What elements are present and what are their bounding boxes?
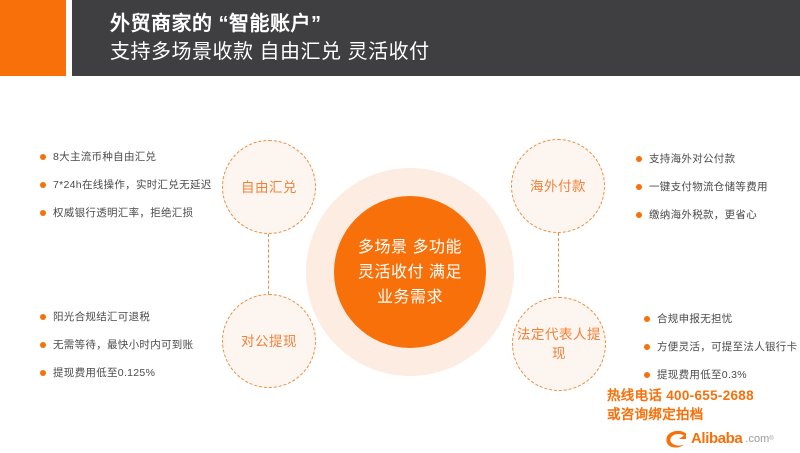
- bullet-dot-icon: [40, 154, 46, 160]
- header-text-wrap: 外贸商家的 “智能账户” 支持多场景收款 自由汇兑 灵活收付: [72, 0, 800, 76]
- trademark-icon: ®: [769, 436, 773, 442]
- list-item: 8大主流币种自由汇兑: [40, 150, 212, 164]
- list-item: 7*24h在线操作，实时汇兑无延迟: [40, 178, 212, 192]
- bullet-group-corporate-withdrawal: 阳光合规结汇可退税 无需等待，最快小时内可到账 提现费用低至0.125%: [40, 310, 193, 394]
- list-item-text: 权威银行透明汇率，拒绝汇损: [53, 207, 193, 219]
- list-item: 提现费用低至0.125%: [40, 366, 193, 380]
- bullet-dot-icon: [636, 184, 642, 190]
- list-item-text: 无需等待，最快小时内可到账: [53, 339, 193, 351]
- list-item: 无需等待，最快小时内可到账: [40, 338, 193, 352]
- list-item: 缴纳海外税款，更省心: [636, 208, 768, 222]
- bullet-dot-icon: [40, 342, 46, 348]
- node-free-exchange[interactable]: 自由汇兑: [222, 140, 316, 234]
- list-item: 权威银行透明汇率，拒绝汇损: [40, 206, 212, 220]
- slide-root: 外贸商家的 “智能账户” 支持多场景收款 自由汇兑 灵活收付 多场景 多功能 灵…: [0, 0, 800, 453]
- node-legal-rep-withdrawal[interactable]: 法定代表人提现: [512, 297, 606, 391]
- list-item: 阳光合规结汇可退税: [40, 310, 193, 324]
- alibaba-wordmark: Alibaba: [691, 431, 742, 447]
- hotline-block: 热线电话 400-655-2688 或咨询绑定拍档: [607, 386, 754, 424]
- alibaba-logo: Alibaba .com ®: [664, 428, 774, 450]
- bullet-dot-icon: [40, 370, 46, 376]
- node-legal-rep-withdrawal-label: 法定代表人提现: [513, 325, 605, 363]
- list-item-text: 一键支付物流仓储等费用: [649, 181, 768, 193]
- bullet-dot-icon: [644, 316, 650, 322]
- header-banner: 外贸商家的 “智能账户” 支持多场景收款 自由汇兑 灵活收付: [0, 0, 800, 76]
- node-corporate-withdrawal-label: 对公提现: [241, 332, 297, 351]
- node-overseas-payment-label: 海外付款: [530, 177, 586, 196]
- list-item: 提现费用低至0.3%: [644, 368, 797, 382]
- list-item: 一键支付物流仓储等费用: [636, 180, 768, 194]
- bullet-group-legal-rep-withdrawal: 合规申报无担忧 方便灵活，可提至法人银行卡 提现费用低至0.3%: [644, 312, 797, 396]
- center-core-label: 多场景 多功能 灵活收付 满足业务需求: [350, 235, 470, 310]
- list-item: 合规申报无担忧: [644, 312, 797, 326]
- node-free-exchange-label: 自由汇兑: [241, 178, 297, 197]
- list-item-text: 8大主流币种自由汇兑: [53, 151, 156, 163]
- page-subtitle: 支持多场景收款 自由汇兑 灵活收付: [110, 38, 800, 67]
- list-item: 支持海外对公付款: [636, 152, 768, 166]
- list-item-text: 缴纳海外税款，更省心: [649, 209, 757, 221]
- list-item-text: 支持海外对公付款: [649, 153, 735, 165]
- hotline-phone: 热线电话 400-655-2688: [607, 386, 754, 405]
- bullet-dot-icon: [644, 344, 650, 350]
- bullet-dot-icon: [40, 210, 46, 216]
- list-item-text: 阳光合规结汇可退税: [53, 311, 150, 323]
- center-core-circle: 多场景 多功能 灵活收付 满足业务需求: [334, 196, 486, 348]
- page-title: 外贸商家的 “智能账户”: [110, 11, 800, 38]
- header-accent-block: [0, 0, 66, 76]
- bullet-dot-icon: [644, 372, 650, 378]
- connector-right-dashed: [558, 233, 559, 293]
- bullet-dot-icon: [40, 182, 46, 188]
- bullet-group-overseas-payment: 支持海外对公付款 一键支付物流仓储等费用 缴纳海外税款，更省心: [636, 152, 768, 236]
- bullet-group-free-exchange: 8大主流币种自由汇兑 7*24h在线操作，实时汇兑无延迟 权威银行透明汇率，拒绝…: [40, 150, 212, 234]
- connector-left-dashed: [268, 234, 269, 294]
- list-item-text: 7*24h在线操作，实时汇兑无延迟: [53, 179, 212, 191]
- bullet-dot-icon: [636, 212, 642, 218]
- node-overseas-payment[interactable]: 海外付款: [511, 139, 605, 233]
- alibaba-domain-suffix: .com: [745, 433, 769, 445]
- list-item-text: 合规申报无担忧: [657, 313, 733, 325]
- bullet-dot-icon: [40, 314, 46, 320]
- bullet-dot-icon: [636, 156, 642, 162]
- list-item: 方便灵活，可提至法人银行卡: [644, 340, 797, 354]
- list-item-text: 提现费用低至0.3%: [657, 369, 747, 381]
- node-corporate-withdrawal[interactable]: 对公提现: [222, 294, 316, 388]
- list-item-text: 提现费用低至0.125%: [53, 367, 155, 379]
- list-item-text: 方便灵活，可提至法人银行卡: [657, 341, 797, 353]
- alibaba-mark-icon: [664, 429, 688, 449]
- hotline-subtext: 或咨询绑定拍档: [607, 405, 754, 424]
